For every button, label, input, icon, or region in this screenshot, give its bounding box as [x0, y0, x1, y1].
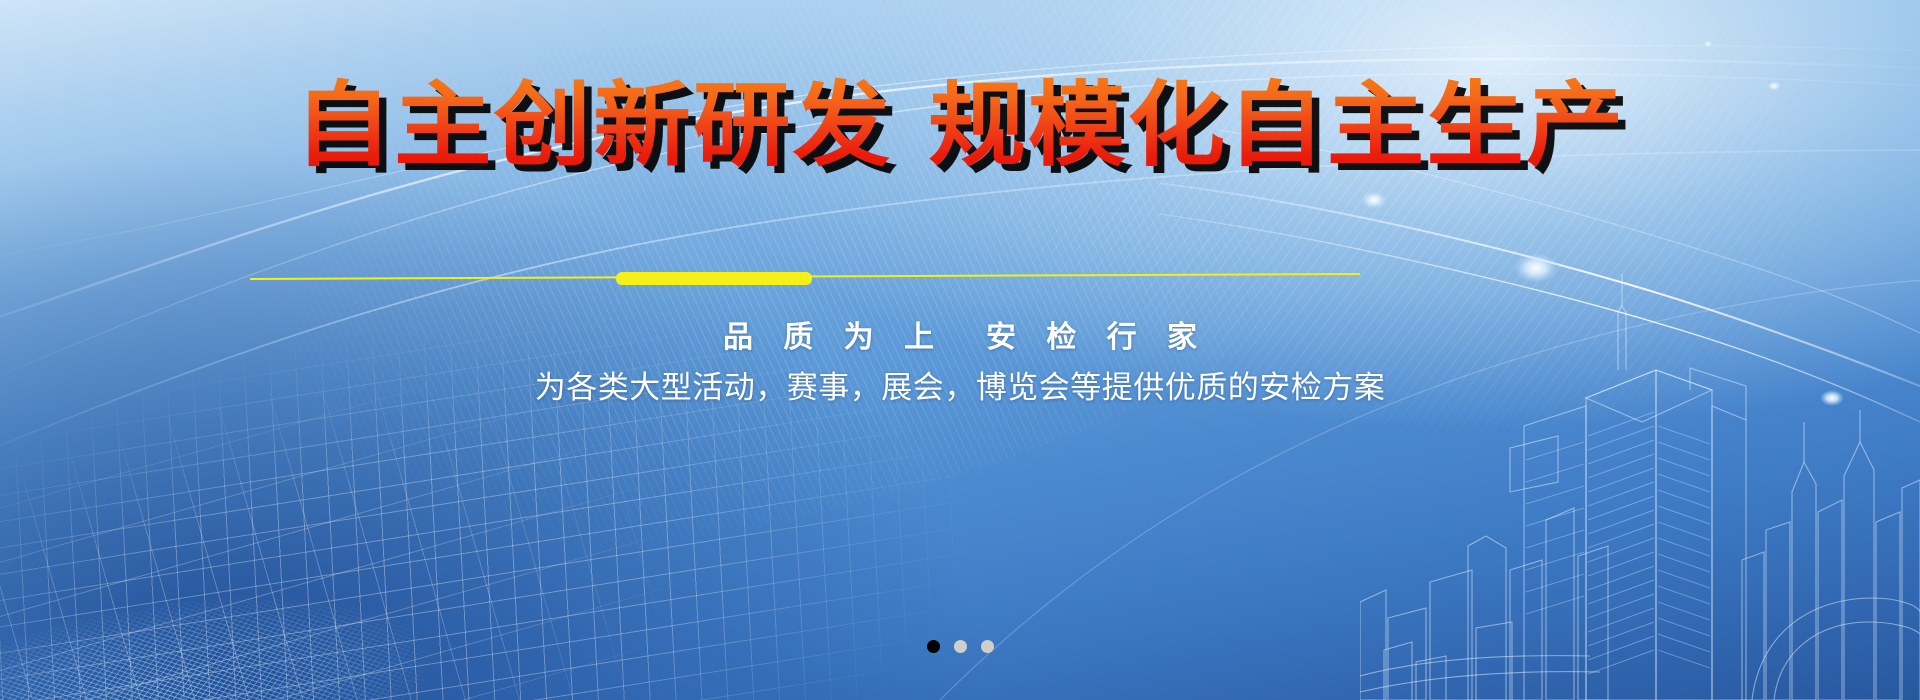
divider [250, 272, 1360, 286]
hero-banner: 自主创新研发 规模化自主生产 品 质 为 上 安 检 行 家 为各类大型活动，赛… [0, 0, 1920, 700]
carousel-dots[interactable] [0, 640, 1920, 653]
subtitle: 为各类大型活动，赛事，展会，博览会等提供优质的安检方案 [0, 362, 1920, 407]
carousel-dot-3[interactable] [981, 640, 994, 653]
carousel-dot-1[interactable] [927, 640, 940, 653]
carousel-dot-2[interactable] [954, 640, 967, 653]
divider-accent-bar [616, 272, 812, 285]
tagline: 品 质 为 上 安 检 行 家 [0, 312, 1920, 356]
page-title: 自主创新研发 规模化自主生产 [0, 74, 1920, 178]
